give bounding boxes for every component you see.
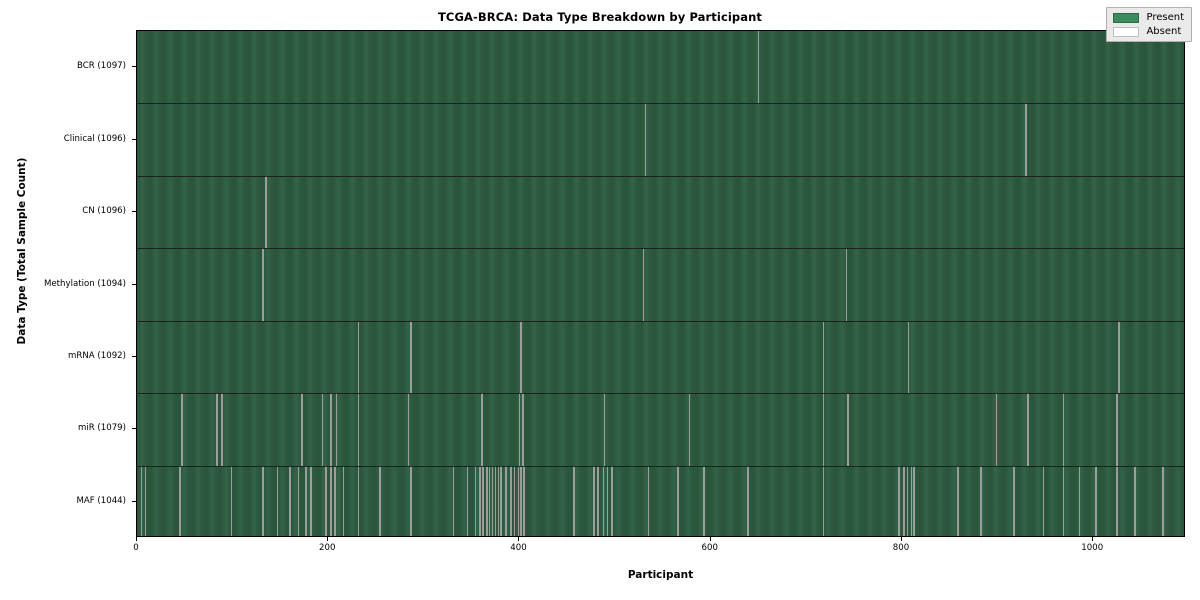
legend-swatch-icon <box>1113 13 1139 23</box>
heatmap-row <box>137 393 1184 465</box>
heatmap-absent-cell <box>758 31 760 103</box>
legend-swatch-icon <box>1113 27 1139 37</box>
heatmap-absent-cell <box>277 466 279 537</box>
heatmap-absent-cell <box>1063 393 1065 465</box>
x-axis-tick-mark <box>136 537 137 541</box>
heatmap-absent-cell <box>453 466 455 537</box>
heatmap-absent-cell <box>703 466 705 537</box>
heatmap-row-separator <box>137 321 1184 322</box>
heatmap-absent-cell <box>305 466 307 537</box>
heatmap-absent-cell <box>1162 466 1164 537</box>
heatmap-absent-cell <box>145 466 147 537</box>
heatmap-absent-cell <box>747 466 749 537</box>
y-axis-tick-label: Clinical (1096) <box>64 134 126 144</box>
heatmap-absent-cell <box>482 466 484 537</box>
heatmap-absent-cell <box>221 393 223 465</box>
heatmap-absent-cell <box>410 321 412 393</box>
legend[interactable]: PresentAbsent <box>1106 7 1192 42</box>
chart-title: TCGA-BRCA: Data Type Breakdown by Partic… <box>0 10 1200 24</box>
x-axis-label: Participant <box>136 569 1185 581</box>
heatmap-absent-cell <box>289 466 291 537</box>
x-axis-tick-label: 200 <box>319 543 335 553</box>
heatmap-absent-cell <box>957 466 959 537</box>
heatmap-absent-cell <box>913 466 915 537</box>
x-axis-tick-mark <box>710 537 711 541</box>
heatmap-absent-cell <box>336 393 338 465</box>
x-axis-tick-label: 800 <box>893 543 909 553</box>
heatmap-absent-cell <box>325 466 327 537</box>
heatmap-absent-cell <box>492 466 494 537</box>
chart-figure: TCGA-BRCA: Data Type Breakdown by Partic… <box>0 0 1200 600</box>
heatmap-absent-cell <box>1025 103 1027 175</box>
heatmap-absent-cell <box>265 176 267 248</box>
heatmap-absent-cell <box>522 393 524 465</box>
legend-item[interactable]: Absent <box>1113 26 1184 37</box>
heatmap-absent-cell <box>823 393 825 465</box>
heatmap-row-present-fill <box>137 103 1184 175</box>
heatmap-absent-cell <box>330 393 332 465</box>
heatmap-row-separator <box>137 248 1184 249</box>
heatmap-absent-cell <box>643 248 645 320</box>
heatmap-absent-cell <box>520 466 522 537</box>
heatmap-absent-cell <box>334 466 336 537</box>
heatmap-absent-cell <box>903 466 905 537</box>
x-axis-tick-label: 1000 <box>1081 543 1103 553</box>
y-axis-tick-label: BCR (1097) <box>77 61 126 71</box>
heatmap-row <box>137 248 1184 320</box>
heatmap-plot-area[interactable] <box>136 30 1185 537</box>
heatmap-row <box>137 31 1184 103</box>
heatmap-row-present-fill <box>137 321 1184 393</box>
heatmap-absent-cell <box>823 466 825 537</box>
x-axis-tick-label: 400 <box>510 543 526 553</box>
heatmap-row-separator <box>137 393 1184 394</box>
heatmap-absent-cell <box>489 466 491 537</box>
heatmap-absent-cell <box>689 393 691 465</box>
heatmap-absent-cell <box>301 393 303 465</box>
heatmap-absent-cell <box>179 466 181 537</box>
heatmap-absent-cell <box>486 466 488 537</box>
heatmap-row <box>137 176 1184 248</box>
heatmap-absent-cell <box>604 393 606 465</box>
x-axis-tick-mark <box>327 537 328 541</box>
heatmap-absent-cell <box>519 393 521 465</box>
heatmap-absent-cell <box>1079 466 1081 537</box>
heatmap-row <box>137 466 1184 537</box>
heatmap-absent-cell <box>611 466 613 537</box>
heatmap-absent-cell <box>523 466 525 537</box>
heatmap-absent-cell <box>262 466 264 537</box>
heatmap-absent-cell <box>603 466 605 537</box>
heatmap-row-present-fill <box>137 176 1184 248</box>
heatmap-row-separator <box>137 103 1184 104</box>
y-axis-label: Data Type (Total Sample Count) <box>16 141 28 361</box>
legend-label: Absent <box>1146 26 1181 37</box>
x-axis-tick-mark <box>1092 537 1093 541</box>
heatmap-absent-cell <box>500 466 502 537</box>
heatmap-absent-cell <box>1116 466 1118 537</box>
heatmap-row <box>137 321 1184 393</box>
heatmap-absent-cell <box>1013 466 1015 537</box>
heatmap-canvas <box>137 31 1184 536</box>
heatmap-absent-cell <box>597 466 599 537</box>
y-axis-tick-label: CN (1096) <box>82 206 126 216</box>
heatmap-absent-cell <box>262 248 264 320</box>
heatmap-absent-cell <box>898 466 900 537</box>
heatmap-absent-cell <box>358 466 360 537</box>
heatmap-absent-cell <box>520 321 522 393</box>
heatmap-absent-cell <box>980 466 982 537</box>
heatmap-absent-cell <box>908 321 910 393</box>
heatmap-absent-cell <box>1043 466 1045 537</box>
y-axis-tick-label: miR (1079) <box>78 423 126 433</box>
heatmap-absent-cell <box>607 466 609 537</box>
heatmap-absent-cell <box>358 321 360 393</box>
heatmap-row <box>137 103 1184 175</box>
heatmap-absent-cell <box>141 466 143 537</box>
heatmap-absent-cell <box>846 248 848 320</box>
heatmap-absent-cell <box>379 466 381 537</box>
heatmap-absent-cell <box>1027 393 1029 465</box>
x-axis-tick-mark <box>518 537 519 541</box>
heatmap-absent-cell <box>298 466 300 537</box>
heatmap-absent-cell <box>645 103 647 175</box>
heatmap-absent-cell <box>410 466 412 537</box>
heatmap-absent-cell <box>510 466 512 537</box>
heatmap-absent-cell <box>593 466 595 537</box>
heatmap-absent-cell <box>505 466 507 537</box>
heatmap-absent-cell <box>475 466 477 537</box>
legend-label: Present <box>1146 12 1184 23</box>
y-axis-tick-label: MAF (1044) <box>76 496 126 506</box>
heatmap-absent-cell <box>408 393 410 465</box>
heatmap-absent-cell <box>231 466 233 537</box>
heatmap-absent-cell <box>907 466 909 537</box>
heatmap-absent-cell <box>1118 321 1120 393</box>
heatmap-row-present-fill <box>137 31 1184 103</box>
heatmap-absent-cell <box>823 321 825 393</box>
x-axis-tick-label: 600 <box>702 543 718 553</box>
heatmap-absent-cell <box>481 393 483 465</box>
heatmap-absent-cell <box>648 466 650 537</box>
heatmap-absent-cell <box>573 466 575 537</box>
heatmap-absent-cell <box>181 393 183 465</box>
heatmap-absent-cell <box>498 466 500 537</box>
heatmap-absent-cell <box>343 466 345 537</box>
heatmap-absent-cell <box>358 393 360 465</box>
y-axis-tick-label: mRNA (1092) <box>68 351 126 361</box>
heatmap-absent-cell <box>1095 466 1097 537</box>
heatmap-absent-cell <box>996 393 998 465</box>
heatmap-absent-cell <box>514 466 516 537</box>
heatmap-row-present-fill <box>137 466 1184 537</box>
heatmap-row-separator <box>137 176 1184 177</box>
heatmap-absent-cell <box>1063 466 1065 537</box>
heatmap-row-present-fill <box>137 248 1184 320</box>
x-axis-tick-label: 0 <box>133 543 138 553</box>
y-axis-tick-label: Methylation (1094) <box>44 279 126 289</box>
heatmap-absent-cell <box>911 466 913 537</box>
heatmap-row-separator <box>137 466 1184 467</box>
heatmap-absent-cell <box>1116 393 1118 465</box>
heatmap-absent-cell <box>330 466 332 537</box>
heatmap-absent-cell <box>495 466 497 537</box>
heatmap-absent-cell <box>677 466 679 537</box>
heatmap-absent-cell <box>467 466 469 537</box>
heatmap-absent-cell <box>1134 466 1136 537</box>
heatmap-absent-cell <box>310 466 312 537</box>
x-axis-tick-mark <box>901 537 902 541</box>
heatmap-absent-cell <box>479 466 481 537</box>
heatmap-absent-cell <box>518 466 520 537</box>
heatmap-absent-cell <box>847 393 849 465</box>
heatmap-absent-cell <box>322 393 324 465</box>
legend-item[interactable]: Present <box>1113 12 1184 23</box>
heatmap-absent-cell <box>216 393 218 465</box>
